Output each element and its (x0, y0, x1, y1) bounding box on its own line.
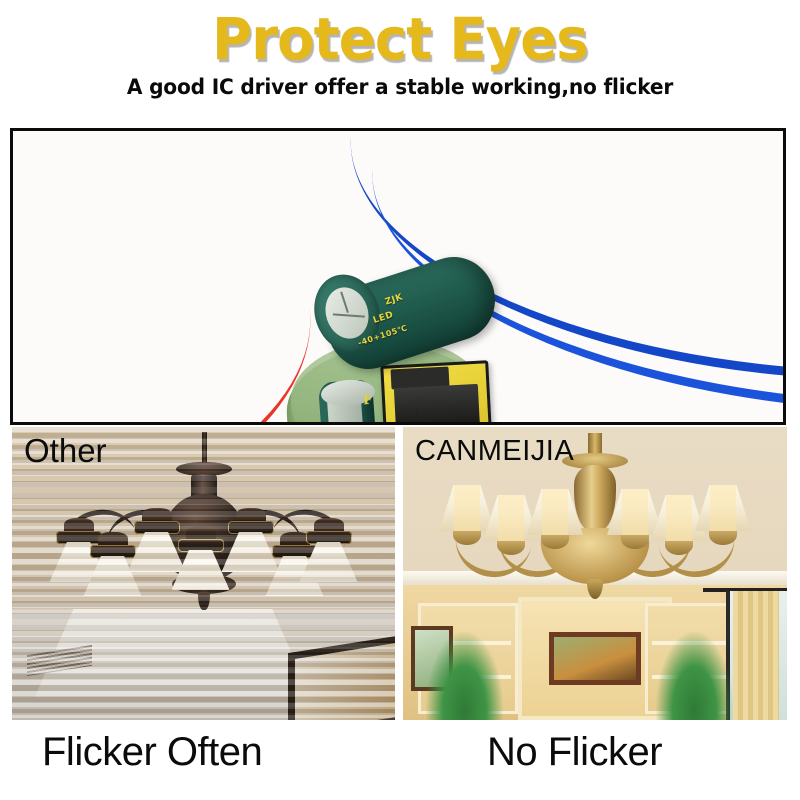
comparison-panel-canmeijia: CANMEIJIA (403, 427, 787, 720)
product-photo-panel: F ZJK LED -40+105℃ (10, 128, 786, 425)
chandelier-finial (587, 579, 603, 599)
fern-plant-right (656, 632, 733, 720)
comparison-panel-other: Other (12, 427, 395, 720)
caption-no-flicker: No Flicker (487, 722, 662, 782)
wall-artwork (549, 632, 641, 685)
panel-label-canmeijia: CANMEIJIA (415, 431, 574, 471)
header: Protect Eyes A good IC driver offer a st… (0, 0, 800, 100)
product-photo-stage: F ZJK LED -40+105℃ (13, 131, 783, 422)
chandelier-lamp-6 (694, 485, 752, 547)
page-subtitle: A good IC driver offer a stable working,… (16, 74, 784, 100)
chandelier-lamp-7 (300, 518, 358, 580)
lamp-shade (300, 542, 358, 582)
caption-flicker-often: Flicker Often (42, 722, 262, 782)
fern-plant-left (426, 632, 503, 720)
lamp-shade (695, 485, 751, 531)
lamp-shade (527, 489, 583, 535)
panel-label-other: Other (24, 431, 107, 471)
caption-row: Flicker Often No Flicker (0, 722, 800, 800)
chandelier-finial (198, 590, 210, 610)
page-title: Protect Eyes (24, 8, 776, 70)
comparison-section: Other (0, 427, 800, 720)
chandelier-lamp-3 (526, 489, 584, 551)
